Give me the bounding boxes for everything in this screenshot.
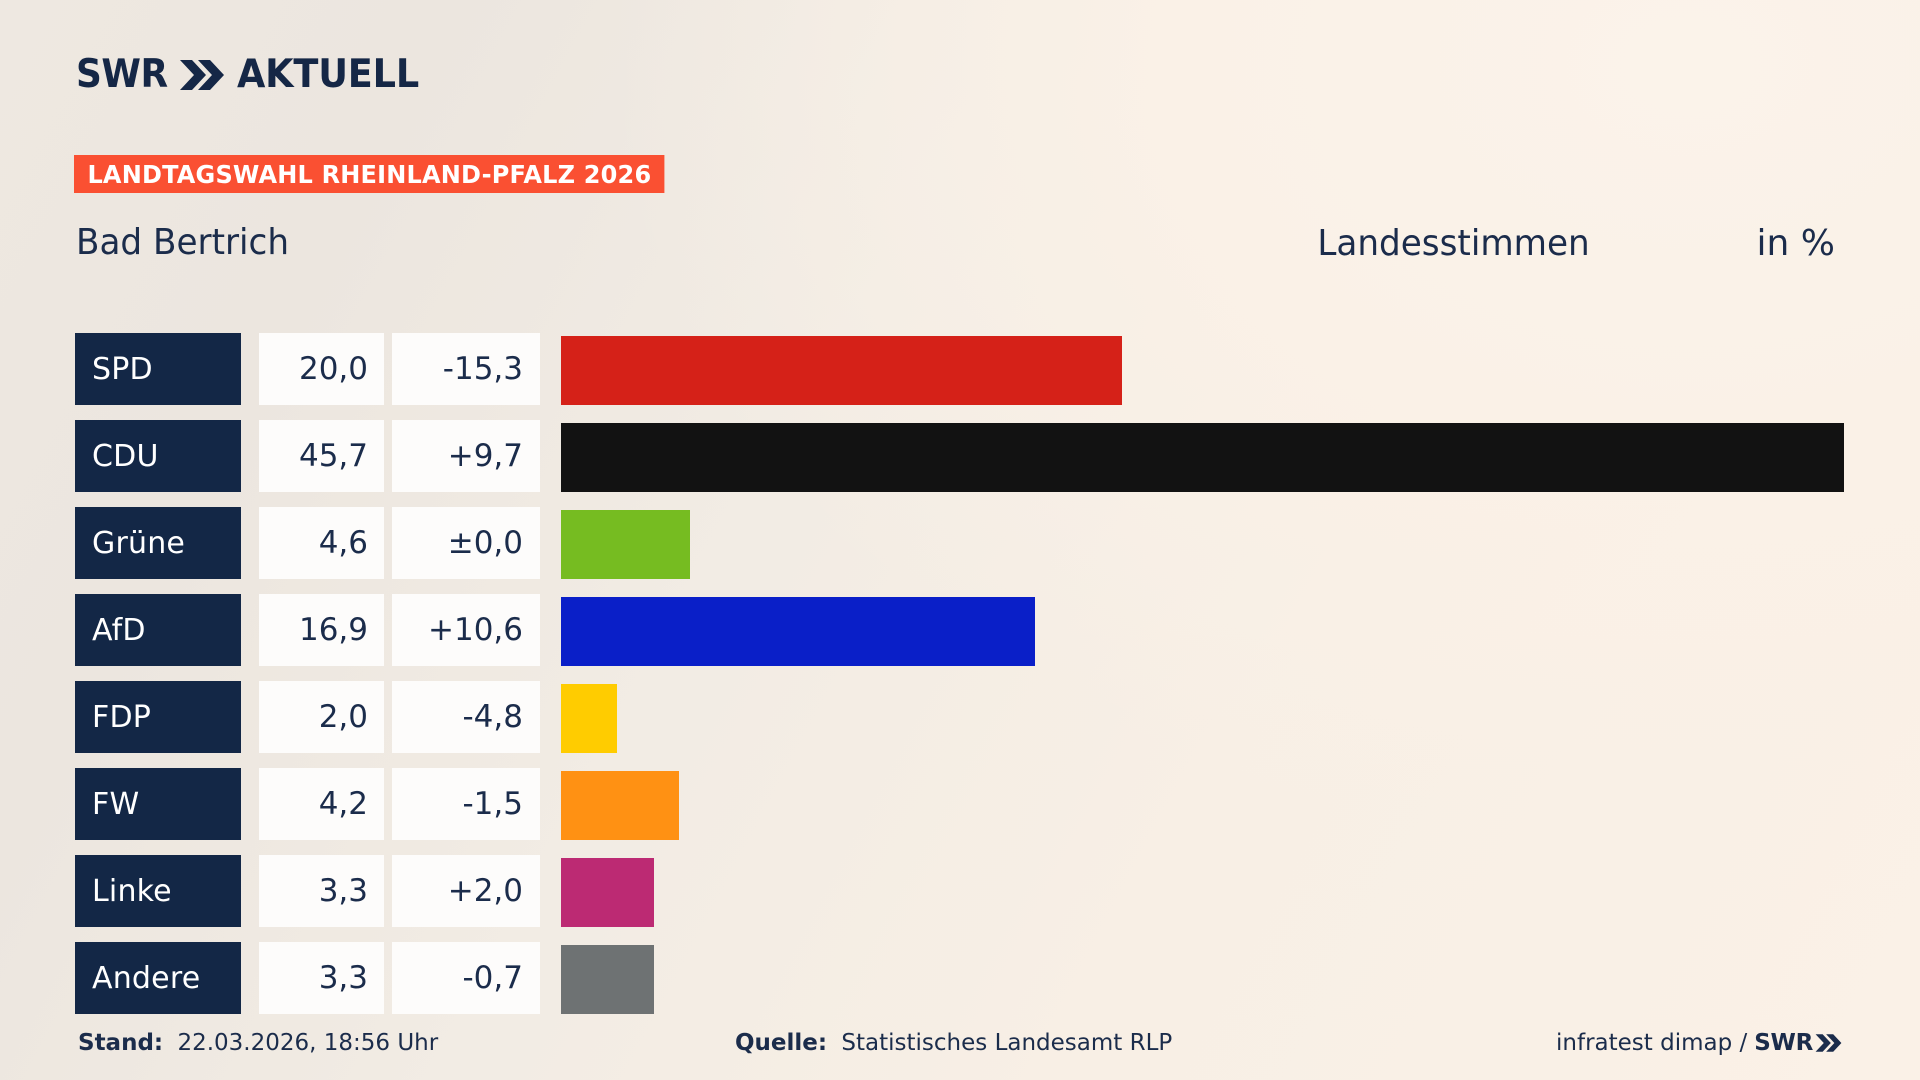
party-label: FW	[75, 768, 241, 840]
result-bar	[561, 597, 1035, 666]
party-result-value: 45,7	[259, 420, 384, 492]
infographic-canvas: SWR AKTUELL LANDTAGSWAHL RHEINLAND-PFALZ…	[0, 0, 1920, 1080]
table-row: SPD20,0-15,3	[0, 333, 1920, 420]
result-bar	[561, 423, 1844, 492]
region-title: Bad Bertrich	[76, 225, 289, 261]
table-row: Grüne4,6±0,0	[0, 507, 1920, 594]
party-change-value: +2,0	[392, 855, 540, 927]
result-bar	[561, 336, 1122, 405]
table-row: FDP2,0-4,8	[0, 681, 1920, 768]
table-row: Linke3,3+2,0	[0, 855, 1920, 942]
stand-value: 22.03.2026, 18:56 Uhr	[177, 1030, 438, 1056]
party-change-value: +10,6	[392, 594, 540, 666]
result-bar	[561, 684, 617, 753]
stand-label: Stand:	[78, 1030, 163, 1056]
party-label: Andere	[75, 942, 241, 1014]
swr-wordmark: SWR	[76, 55, 168, 94]
table-row: AfD16,9+10,6	[0, 594, 1920, 681]
table-row: Andere3,3-0,7	[0, 942, 1920, 1029]
vote-type-label: Landesstimmen	[1318, 226, 1590, 262]
footer: Stand: 22.03.2026, 18:56 Uhr Quelle: Sta…	[0, 1030, 1920, 1070]
source-label: Quelle:	[735, 1030, 827, 1056]
double-chevron-right-icon	[179, 58, 225, 92]
party-change-value: -1,5	[392, 768, 540, 840]
result-bar	[561, 945, 654, 1014]
result-bar	[561, 771, 679, 840]
party-result-value: 3,3	[259, 942, 384, 1014]
credit-text: infratest dimap /	[1556, 1030, 1747, 1056]
party-result-value: 4,6	[259, 507, 384, 579]
party-change-value: +9,7	[392, 420, 540, 492]
aktuell-wordmark: AKTUELL	[237, 55, 419, 94]
result-bar	[561, 858, 654, 927]
party-result-value: 2,0	[259, 681, 384, 753]
party-change-value: -4,8	[392, 681, 540, 753]
results-table: SPD20,0-15,3CDU45,7+9,7Grüne4,6±0,0AfD16…	[0, 333, 1920, 1029]
party-result-value: 3,3	[259, 855, 384, 927]
credit-swr-wordmark: SWR	[1754, 1030, 1813, 1056]
source-value: Statistisches Landesamt RLP	[841, 1030, 1172, 1056]
party-change-value: -15,3	[392, 333, 540, 405]
party-label: Linke	[75, 855, 241, 927]
unit-label: in %	[1757, 226, 1835, 262]
double-chevron-right-icon	[1815, 1033, 1842, 1053]
party-result-value: 16,9	[259, 594, 384, 666]
party-label: AfD	[75, 594, 241, 666]
source-info: Quelle: Statistisches Landesamt RLP	[735, 1030, 1172, 1056]
election-badge: LANDTAGSWAHL RHEINLAND-PFALZ 2026	[74, 155, 665, 193]
stand-info: Stand: 22.03.2026, 18:56 Uhr	[78, 1030, 438, 1056]
party-label: SPD	[75, 333, 241, 405]
result-bar	[561, 510, 690, 579]
swr-aktuell-logo: SWR AKTUELL	[76, 55, 430, 94]
party-result-value: 4,2	[259, 768, 384, 840]
party-change-value: ±0,0	[392, 507, 540, 579]
table-row: FW4,2-1,5	[0, 768, 1920, 855]
party-result-value: 20,0	[259, 333, 384, 405]
party-label: Grüne	[75, 507, 241, 579]
party-change-value: -0,7	[392, 942, 540, 1014]
credit-info: infratest dimap / SWR	[1556, 1030, 1842, 1056]
party-label: FDP	[75, 681, 241, 753]
table-row: CDU45,7+9,7	[0, 420, 1920, 507]
party-label: CDU	[75, 420, 241, 492]
